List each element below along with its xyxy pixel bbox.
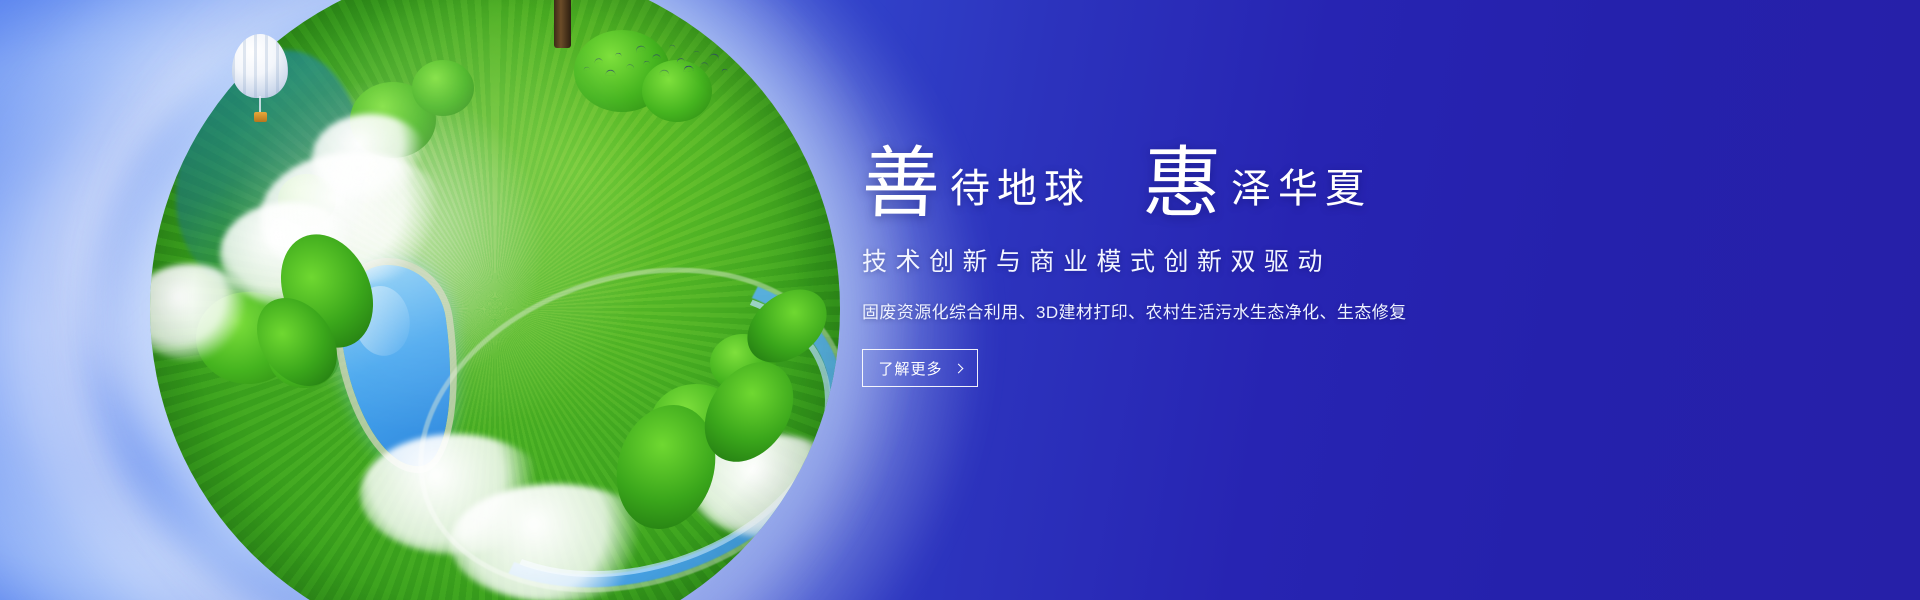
bird-icon [594, 58, 603, 64]
cloud-icon [150, 264, 250, 360]
bird-icon [626, 63, 635, 69]
bird-icon [669, 44, 676, 49]
bird-icon [683, 65, 694, 72]
hero-subtitle: 技术创新与商业模式创新双驱动 [862, 242, 1622, 278]
bird-icon [652, 54, 660, 59]
headline-phrase-2: 惠 泽华夏 [1143, 148, 1372, 220]
birds-flock-icon [580, 40, 730, 100]
tree-icon [278, 174, 336, 226]
page-title: 善 待地球 惠 泽华夏 [862, 128, 1622, 220]
bird-icon [700, 62, 709, 68]
hero-description: 固废资源化综合利用、3D建材打印、农村生活污水生态净化、生态修复 [862, 298, 1622, 323]
headline-char-hui: 惠 [1142, 148, 1223, 220]
bird-icon [605, 70, 615, 76]
headline-rest-1: 待地球 [940, 162, 1091, 220]
bird-icon [643, 60, 650, 64]
learn-more-button[interactable]: 了解更多 [862, 349, 978, 387]
headline-rest-2: 泽华夏 [1221, 162, 1372, 220]
balloon-basket [254, 112, 267, 122]
headline-char-shan: 善 [861, 148, 942, 220]
bird-icon [709, 52, 720, 60]
bird-icon [583, 66, 590, 71]
tree-trunk [554, 0, 571, 48]
bird-icon [615, 52, 622, 56]
cloud-icon [312, 114, 428, 202]
hot-air-balloon-icon [232, 34, 288, 130]
balloon-envelope [232, 34, 288, 98]
bird-icon [635, 44, 646, 52]
hero-copy: 善 待地球 惠 泽华夏 技术创新与商业模式创新双驱动 固废资源化综合利用、3D建… [862, 128, 1622, 387]
learn-more-label: 了解更多 [878, 358, 942, 379]
bird-icon [721, 68, 728, 73]
tree-icon [412, 60, 474, 116]
bird-icon [693, 51, 699, 55]
chevron-right-icon [953, 363, 963, 373]
cloud-icon [360, 434, 550, 554]
headline-phrase-1: 善 待地球 [862, 148, 1091, 220]
tree-icon [350, 82, 436, 158]
bird-icon [676, 57, 685, 63]
bird-icon [659, 69, 670, 76]
big-tree-icon [442, 0, 692, 38]
hero-banner: 善 待地球 惠 泽华夏 技术创新与商业模式创新双驱动 固废资源化综合利用、3D建… [0, 0, 1920, 600]
